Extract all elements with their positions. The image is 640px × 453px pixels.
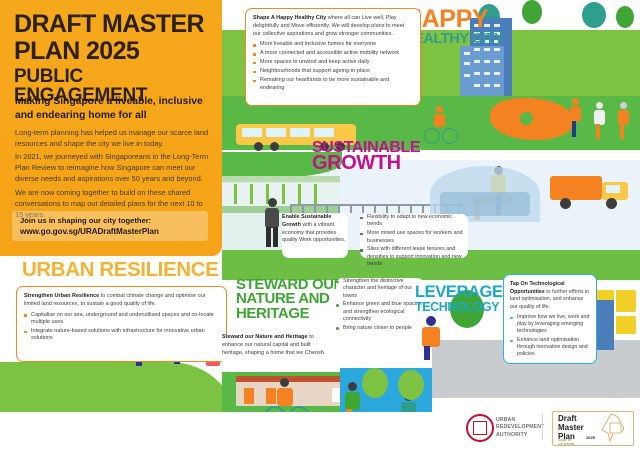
urban-bullet-list: Capitalise on our sea, underground and u… [24,312,219,343]
card-urban-intro-strong: Strengthen Urban Resilience [24,293,99,299]
list-item: Improve how we live, work and play by le… [510,314,590,335]
heading-leverage-technology: LEVERAGE TECHNOLOGY [415,285,503,314]
card-steward-intro-strong: Steward our Nature and Heritage [222,334,308,340]
footer-white-left [0,412,452,453]
body-paragraph-1: Long-term planning has helped us manage … [15,128,213,150]
card-happy-intro: Shape A Happy Healthy City where all can… [253,15,413,38]
card-sustainable-intro-text: Enable Sustainable Growth with a vibrant… [282,214,348,245]
tech-bullet-list: Improve how we live, work and play by le… [510,314,590,358]
heading-steward-nature-heritage: STEWARD OUR NATURE AND HERITAGE [236,278,344,321]
card-steward-bullets: Strengthen the distinctive character and… [336,278,424,330]
illustration-truck [550,170,632,214]
card-steward-intro: Steward our Nature and Heritage to enhan… [222,334,332,370]
heading-sustainable-growth: SUSTAINABLE GROWTH [312,140,420,173]
list-item: Sites with different lease tenures and d… [360,246,468,268]
card-steward-intro-text: Steward our Nature and Heritage to enhan… [222,334,332,358]
heading-urban-resilience: URBAN RESILIENCE [22,260,218,279]
sustainable-bullet-list: Flexibility to adapt to new economic tre… [360,214,468,268]
illustration-playground-hole [520,112,533,125]
dmp-year: 2025 [586,435,595,440]
illustration-lower-trees [360,368,440,408]
join-url-link[interactable]: www.go.gov.sg/URADraftMasterPlan [20,227,159,236]
list-item: Enhance land optimisation through innova… [510,337,590,358]
card-sustainable-intro: Enable Sustainable Growth with a vibrant… [282,214,348,258]
heading-sustainable-line-2: GROWTH [312,154,420,173]
illustration-stadium-panels [440,192,530,216]
list-item: Integrate nature-based solutions with in… [24,328,219,343]
footer-logo-row: URBAN REDEVELOPMENT AUTHORITY Draft Mast… [466,408,634,448]
kite-icon [597,413,627,443]
list-item: Flexibility to adapt to new economic tre… [360,214,468,229]
ura-logo-text: URBAN REDEVELOPMENT AUTHORITY [496,417,544,439]
ura-line-2: REDEVELOPMENT [496,424,544,431]
dmp-line-2: Master [558,423,584,432]
illustration-park-people [568,96,640,150]
draft-master-plan-logo: Draft Master Plan 2025 Space for our dre… [552,411,634,446]
steward-bullet-list: Strengthen the distinctive character and… [336,278,424,332]
join-callout: Join us in shaping our city together: ww… [12,211,208,241]
list-item: Bring nature closer to people [336,325,424,332]
card-happy-intro-strong: Shape A Happy Healthy City [253,15,326,21]
tagline: Making Singapore a liveable, inclusive a… [15,95,211,122]
join-label: Join us in shaping our city together: [20,216,151,225]
page-title: DRAFT MASTER PLAN 2025 PUBLIC ENGAGEMENT [14,12,214,105]
card-happy-bullets: More liveable and inclusive homes for ev… [253,41,413,92]
logo-divider [542,413,543,440]
card-happy-healthy-city: Shape A Happy Healthy City where all can… [245,8,421,106]
dmp-subtitle: Space for our dreams [558,439,574,447]
list-item: Remaking our heartlands to be more susta… [253,77,413,92]
list-item: Capitalise on our sea, underground and u… [24,312,219,327]
list-item: More mixed use spaces for workers and bu… [360,230,468,245]
card-sustainable-bullets: Flexibility to adapt to new economic tre… [360,214,468,258]
list-item: More liveable and inclusive homes for ev… [253,41,413,48]
list-item: Strengthen the distinctive character and… [336,278,424,300]
card-urban-intro: Strengthen Urban Resilience to combat cl… [24,293,219,309]
body-paragraph-2: In 2021, we journeyed with Singaporeans … [15,152,213,185]
dmp-line-1: Draft [558,414,577,423]
card-tech-intro: Tap On Technological Opportunities to fu… [510,281,590,311]
list-item: Neighbourhoods that support ageing-in-pl… [253,68,413,75]
heading-tech-line-2: TECHNOLOGY [415,302,503,314]
heading-steward-line-3: HERITAGE [236,307,344,321]
heading-tech-line-1: LEVERAGE [415,285,503,301]
title-line-1: DRAFT MASTER [14,12,214,37]
infographic-poster: DRAFT MASTER PLAN 2025 PUBLIC ENGAGEMENT… [0,0,640,453]
title-line-2: PLAN 2025 [14,39,214,64]
illustration-cyclist [424,106,458,146]
ura-logo-icon [466,414,494,442]
card-leverage-technology: Tap On Technological Opportunities to fu… [503,274,597,364]
ura-line-1: URBAN [496,417,544,424]
list-item: Enhance green and blue spaces, and stren… [336,301,424,323]
ura-line-3: AUTHORITY [496,432,544,439]
list-item: A more connected and accessible active m… [253,50,413,57]
dmp-sub-2: our dreams [558,442,574,446]
list-item: More spaces to unwind and keep active da… [253,59,413,66]
card-urban-resilience: Strengthen Urban Resilience to combat cl… [16,286,227,362]
title-panel: DRAFT MASTER PLAN 2025 PUBLIC ENGAGEMENT… [0,0,222,256]
